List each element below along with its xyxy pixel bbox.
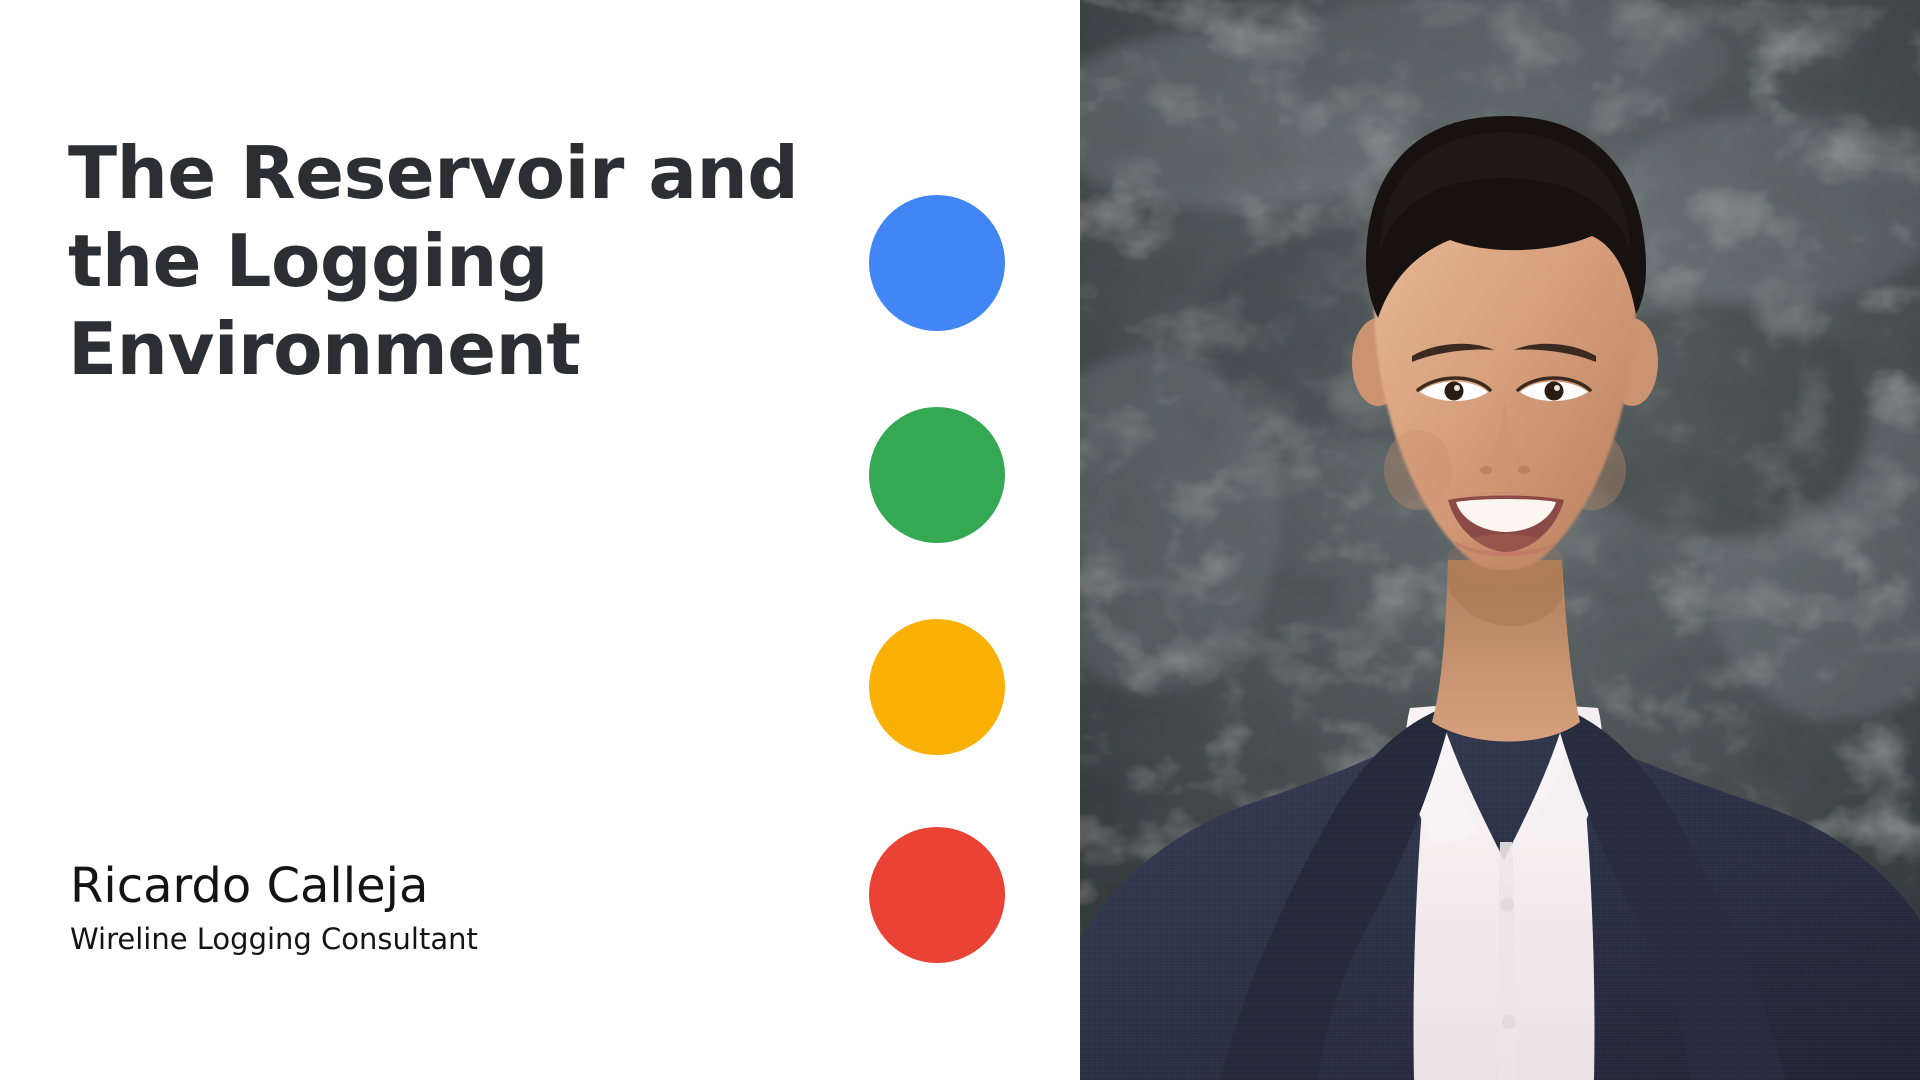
presenter-name: Ricardo Calleja — [70, 860, 810, 914]
presenter-portrait-photo — [1080, 0, 1920, 1080]
title-slide: The Reservoir and the Logging Environmen… — [0, 0, 1920, 1080]
presenter-role: Wireline Logging Consultant — [70, 922, 810, 957]
green-dot — [869, 407, 1005, 543]
title-block: The Reservoir and the Logging Environmen… — [68, 130, 808, 393]
slide-title: The Reservoir and the Logging Environmen… — [68, 130, 808, 393]
portrait-illustration — [1080, 0, 1920, 1080]
yellow-dot — [869, 619, 1005, 755]
red-dot — [869, 827, 1005, 963]
blue-dot — [869, 195, 1005, 331]
presenter-block: Ricardo Calleja Wireline Logging Consult… — [70, 860, 810, 957]
decorative-dot-column — [869, 195, 1009, 965]
